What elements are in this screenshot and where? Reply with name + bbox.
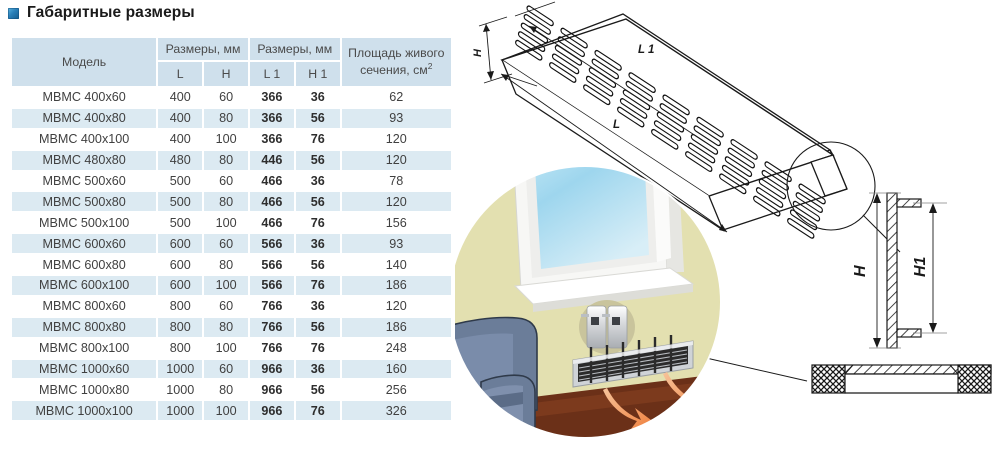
cell-h: 60 — [203, 359, 249, 380]
cell-h: 100 — [203, 275, 249, 296]
cell-area: 120 — [341, 191, 452, 212]
cell-area: 326 — [341, 400, 452, 421]
technical-illustration-panel: H L 1 L — [455, 0, 1001, 464]
cell-h1: 76 — [295, 129, 341, 150]
cell-l: 600 — [157, 275, 203, 296]
cell-l1: 966 — [249, 400, 295, 421]
cell-h1: 36 — [295, 87, 341, 108]
cell-l: 1000 — [157, 359, 203, 380]
cell-l: 500 — [157, 212, 203, 233]
cell-h1: 36 — [295, 359, 341, 380]
cell-l1: 366 — [249, 129, 295, 150]
cell-l1: 566 — [249, 254, 295, 275]
page-title: Габаритные размеры — [8, 4, 195, 22]
cell-h1: 76 — [295, 275, 341, 296]
cell-l: 480 — [157, 150, 203, 171]
cell-h: 80 — [203, 317, 249, 338]
cell-h1: 56 — [295, 379, 341, 400]
cell-h1: 36 — [295, 233, 341, 254]
cell-h1: 56 — [295, 150, 341, 171]
section-label-H: H — [852, 265, 869, 277]
column-header-area-line2: сечения, см — [360, 64, 428, 78]
cell-model: MBMC 1000x80 — [11, 379, 157, 400]
cell-model: MBMC 500x100 — [11, 212, 157, 233]
cell-l1: 366 — [249, 108, 295, 129]
cell-l1: 466 — [249, 171, 295, 192]
cell-l: 400 — [157, 87, 203, 108]
cell-h: 80 — [203, 150, 249, 171]
column-header-area: Площадь живого сечения, см2 — [341, 37, 452, 87]
cell-h: 60 — [203, 296, 249, 317]
table-row: MBMC 800x10080010076676248 — [11, 338, 452, 359]
cell-area: 160 — [341, 359, 452, 380]
column-header-area-superscript: 2 — [428, 61, 433, 71]
cell-area: 256 — [341, 379, 452, 400]
cell-area: 93 — [341, 108, 452, 129]
table-row: MBMC 500x10050010046676156 — [11, 212, 452, 233]
table-row: MBMC 500x805008046656120 — [11, 191, 452, 212]
blue-square-bullet-icon — [8, 8, 19, 19]
cell-l1: 366 — [249, 87, 295, 108]
cell-model: MBMC 800x80 — [11, 317, 157, 338]
cell-l: 600 — [157, 254, 203, 275]
column-header-h1: H 1 — [295, 61, 341, 87]
cell-area: 120 — [341, 129, 452, 150]
column-header-l: L — [157, 61, 203, 87]
column-header-group-2: Размеры, мм — [249, 37, 341, 61]
cell-model: MBMC 600x100 — [11, 275, 157, 296]
cell-area: 156 — [341, 212, 452, 233]
cell-model: MBMC 500x80 — [11, 191, 157, 212]
cell-h1: 56 — [295, 317, 341, 338]
table-row: MBMC 400x60400603663662 — [11, 87, 452, 108]
cell-area: 120 — [341, 296, 452, 317]
table-row: MBMC 600x60600605663693 — [11, 233, 452, 254]
cell-area: 93 — [341, 233, 452, 254]
iso-height-dimension: H — [472, 17, 512, 83]
cell-l1: 566 — [249, 275, 295, 296]
cell-model: MBMC 600x60 — [11, 233, 157, 254]
cell-model: MBMC 1000x100 — [11, 400, 157, 421]
cell-model: MBMC 500x60 — [11, 171, 157, 192]
cell-h1: 36 — [295, 296, 341, 317]
cell-h: 60 — [203, 233, 249, 254]
cell-l1: 446 — [249, 150, 295, 171]
cell-model: MBMC 1000x60 — [11, 359, 157, 380]
cell-l1: 966 — [249, 359, 295, 380]
cell-area: 186 — [341, 275, 452, 296]
table-row: MBMC 1000x6010006096636160 — [11, 359, 452, 380]
cell-h: 80 — [203, 254, 249, 275]
cell-h: 100 — [203, 400, 249, 421]
cell-h1: 56 — [295, 108, 341, 129]
cell-h1: 76 — [295, 212, 341, 233]
cell-l: 500 — [157, 191, 203, 212]
column-header-area-line1: Площадь живого — [348, 46, 444, 60]
table-row: MBMC 400x80400803665693 — [11, 108, 452, 129]
cell-h: 80 — [203, 108, 249, 129]
cell-h: 60 — [203, 171, 249, 192]
table-row: MBMC 480x804808044656120 — [11, 150, 452, 171]
iso-label-H: H — [472, 48, 484, 57]
cell-l: 400 — [157, 108, 203, 129]
cell-h1: 56 — [295, 254, 341, 275]
table-row: MBMC 1000x8010008096656256 — [11, 379, 452, 400]
cell-model: MBMC 400x80 — [11, 108, 157, 129]
cell-h: 80 — [203, 191, 249, 212]
page-title-text: Габаритные размеры — [27, 4, 195, 22]
section-label-H1: H1 — [912, 256, 929, 277]
cell-model: MBMC 480x80 — [11, 150, 157, 171]
cell-model: MBMC 800x100 — [11, 338, 157, 359]
table-row: MBMC 600x10060010056676186 — [11, 275, 452, 296]
iso-label-L1: L 1 — [638, 44, 654, 56]
cell-l1: 466 — [249, 191, 295, 212]
cell-area: 120 — [341, 150, 452, 171]
cell-l1: 566 — [249, 233, 295, 254]
iso-label-L: L — [613, 119, 620, 131]
cell-model: MBMC 400x100 — [11, 129, 157, 150]
cell-l: 800 — [157, 317, 203, 338]
column-header-l1: L 1 — [249, 61, 295, 87]
cell-model: MBMC 800x60 — [11, 296, 157, 317]
cell-l: 600 — [157, 233, 203, 254]
table-header: Модель Размеры, мм Размеры, мм Площадь ж… — [11, 37, 452, 87]
cell-area: 62 — [341, 87, 452, 108]
cell-area: 186 — [341, 317, 452, 338]
table-row: MBMC 1000x100100010096676326 — [11, 400, 452, 421]
column-header-h: H — [203, 61, 249, 87]
table-row: MBMC 800x808008076656186 — [11, 317, 452, 338]
cell-l1: 466 — [249, 212, 295, 233]
cell-l: 800 — [157, 338, 203, 359]
artwork-svg: H L 1 L — [455, 0, 1001, 464]
cell-model: MBMC 400x60 — [11, 87, 157, 108]
cell-l: 500 — [157, 171, 203, 192]
cell-l: 800 — [157, 296, 203, 317]
cell-model: MBMC 600x80 — [11, 254, 157, 275]
cell-area: 248 — [341, 338, 452, 359]
cell-h1: 76 — [295, 400, 341, 421]
cell-h1: 76 — [295, 338, 341, 359]
cell-h: 80 — [203, 379, 249, 400]
cell-l1: 766 — [249, 296, 295, 317]
table-row: MBMC 500x60500604663678 — [11, 171, 452, 192]
table-row: MBMC 600x806008056656140 — [11, 254, 452, 275]
sofa — [455, 318, 537, 449]
cell-h: 100 — [203, 212, 249, 233]
cell-h1: 56 — [295, 191, 341, 212]
dimensions-table: Модель Размеры, мм Размеры, мм Площадь ж… — [10, 36, 453, 422]
cell-l: 1000 — [157, 400, 203, 421]
cross-section-vertical: H H1 — [852, 193, 947, 348]
table-row: MBMC 800x608006076636120 — [11, 296, 452, 317]
cell-l1: 766 — [249, 317, 295, 338]
cell-l1: 966 — [249, 379, 295, 400]
table-body: MBMC 400x60400603663662MBMC 400x80400803… — [11, 87, 452, 421]
table-row: MBMC 400x10040010036676120 — [11, 129, 452, 150]
column-header-model: Модель — [11, 37, 157, 87]
cell-h1: 36 — [295, 171, 341, 192]
column-header-group-1: Размеры, мм — [157, 37, 249, 61]
cross-section-horizontal — [680, 352, 991, 393]
cell-l1: 766 — [249, 338, 295, 359]
cell-l: 1000 — [157, 379, 203, 400]
cell-area: 78 — [341, 171, 452, 192]
cell-h: 100 — [203, 338, 249, 359]
cell-h: 60 — [203, 87, 249, 108]
cell-area: 140 — [341, 254, 452, 275]
cell-h: 100 — [203, 129, 249, 150]
cell-l: 400 — [157, 129, 203, 150]
